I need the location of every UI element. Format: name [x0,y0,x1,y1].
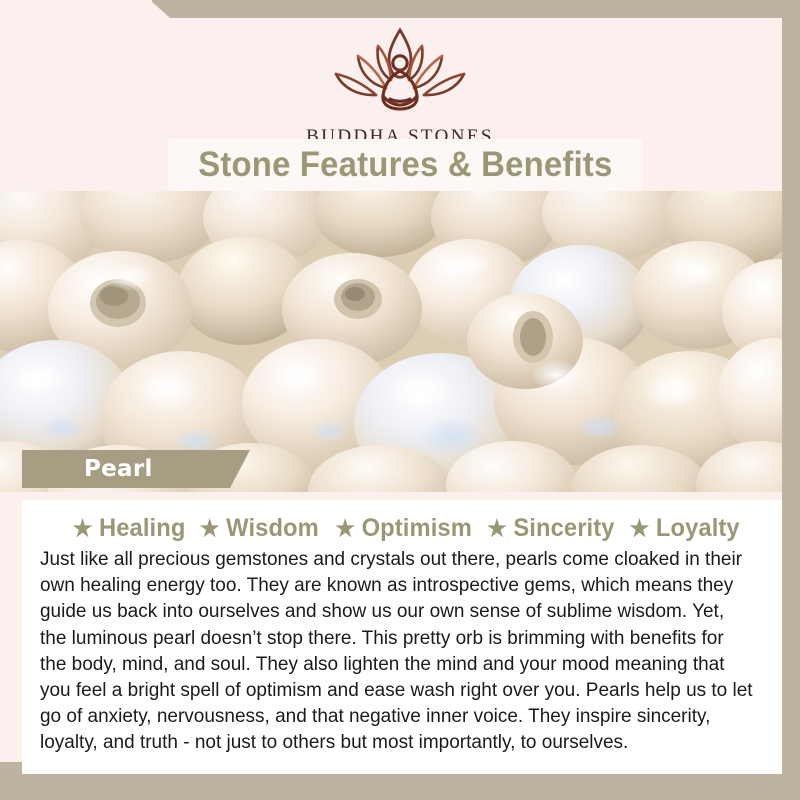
brand-logo: BUDDHA STONES [0,22,800,148]
benefits-row: ★ Healing ★ Wisdom ★ Optimism ★ Sincerit… [22,500,782,543]
benefit-wisdom: ★ Wisdom [192,514,320,543]
star-icon: ★ [200,517,220,540]
benefit-label: Sincerity [514,514,615,543]
benefit-optimism: ★ Optimism [326,514,471,543]
title-banner: Stone Features & Benefits [168,139,642,191]
benefit-label: Wisdom [226,514,319,543]
benefit-label: Healing [99,514,185,543]
stone-name-banner: Pearl [22,450,250,488]
benefit-healing: ★ Healing [64,514,185,543]
star-icon: ★ [630,517,650,540]
stone-benefits-poster: BUDDHA STONES Stone Features & Benefits [0,0,800,800]
star-icon: ★ [487,517,507,540]
description-card: ★ Healing ★ Wisdom ★ Optimism ★ Sincerit… [22,500,782,774]
benefit-label: Loyalty [656,514,740,543]
star-icon: ★ [72,517,92,540]
frame-corner-notch [0,0,152,3]
stone-name: Pearl [84,456,153,482]
pearls-photo-illustration [0,191,782,492]
star-icon: ★ [335,517,355,540]
benefit-sincerity: ★ Sincerity [479,514,615,543]
benefit-loyalty: ★ Loyalty [622,514,741,543]
pearls-photo [0,191,782,492]
lotus-meditation-figure-icon [310,22,490,122]
description-text: Just like all precious gemstones and cry… [40,547,755,757]
benefit-label: Optimism [361,514,471,543]
page-title: Stone Features & Benefits [198,145,612,185]
